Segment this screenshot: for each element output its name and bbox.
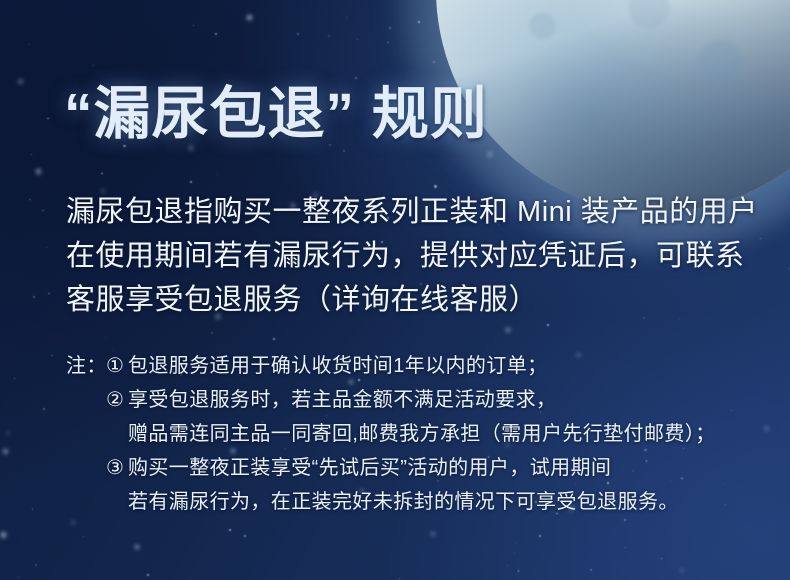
- star-dot: [346, 17, 348, 19]
- moon-icon: [436, 0, 790, 212]
- note-item-continuation: 赠品需连同主品一同寄回,邮费我方承担（需用户先行垫付邮费）；: [66, 417, 776, 451]
- note-marker: ①: [106, 349, 128, 383]
- star-dot: [328, 35, 330, 37]
- star-dot: [3, 449, 8, 454]
- star-dot: [43, 408, 45, 410]
- star-dot: [434, 185, 436, 187]
- star-dot: [624, 519, 626, 521]
- promo-banner: “漏尿包退” 规则 漏尿包退指购买一整夜系列正装和 Mini 装产品的用户 在使…: [0, 0, 790, 580]
- star-dot: [48, 293, 50, 295]
- moon-shadow: [436, 0, 790, 212]
- star-dot: [47, 118, 49, 120]
- star-dot: [18, 79, 23, 84]
- star-dot: [297, 33, 299, 35]
- notes-list: 注： ① 包退服务适用于确认收货时间1年以内的订单； ② 享受包退服务时，若主品…: [66, 349, 776, 519]
- note-text: 若有漏尿行为，在正装完好未拆封的情况下可享受包退服务。: [128, 485, 679, 519]
- star-dot: [515, 543, 516, 544]
- star-dot: [83, 536, 84, 537]
- star-dot: [101, 173, 103, 175]
- star-dot: [32, 508, 34, 510]
- star-dot: [71, 521, 75, 525]
- star-dot: [514, 552, 515, 553]
- note-item: 注： ① 包退服务适用于确认收货时间1年以内的订单；: [66, 349, 776, 383]
- star-dot: [590, 569, 592, 571]
- star-dot: [625, 547, 627, 549]
- star-dot: [193, 25, 194, 26]
- page-title: “漏尿包退” 规则: [64, 68, 488, 150]
- note-text: 享受包退服务时，若主品金额不满足活动要求，: [128, 383, 556, 417]
- policy-description: 漏尿包退指购买一整夜系列正装和 Mini 装产品的用户 在使用期间若有漏尿行为，…: [66, 190, 766, 322]
- star-dot: [93, 65, 94, 66]
- star-dot: [518, 570, 519, 571]
- star-dot: [51, 355, 53, 357]
- star-dot: [229, 529, 231, 531]
- star-dot: [244, 535, 246, 537]
- star-dot: [273, 338, 275, 340]
- note-text: 包退服务适用于确认收货时间1年以内的订单；: [128, 349, 548, 383]
- star-dot: [42, 210, 44, 212]
- star-dot: [215, 33, 217, 35]
- star-dot: [433, 61, 435, 63]
- notes-prefix-label: 注：: [66, 349, 106, 383]
- star-dot: [135, 545, 139, 549]
- star-dot: [31, 154, 32, 155]
- note-text: 购买一整夜正装享受“先试后买”活动的用户，试用期间: [128, 451, 611, 485]
- star-dot: [29, 44, 30, 45]
- star-dot: [7, 432, 9, 434]
- note-marker: ②: [106, 383, 128, 417]
- note-item: ③ 购买一整夜正装享受“先试后买”活动的用户，试用期间: [66, 451, 776, 485]
- star-dot: [506, 328, 510, 332]
- star-dot: [488, 152, 493, 157]
- star-dot: [343, 150, 345, 152]
- star-dot: [36, 169, 41, 174]
- star-dot: [507, 565, 509, 567]
- policy-line: 客服享受包退服务（详询在线客服）: [66, 278, 766, 322]
- star-dot: [680, 569, 684, 573]
- star-dot: [247, 15, 252, 20]
- star-dot: [211, 332, 213, 334]
- star-dot: [661, 558, 662, 559]
- star-dot: [387, 42, 389, 44]
- star-dot: [33, 296, 35, 298]
- star-dot: [399, 578, 400, 579]
- star-dot: [389, 27, 391, 29]
- star-dot: [105, 337, 106, 338]
- star-dot: [46, 247, 47, 248]
- note-item: ② 享受包退服务时，若主品金额不满足活动要求，: [66, 383, 776, 417]
- policy-line: 在使用期间若有漏尿行为，提供对应凭证后，可联系: [66, 234, 766, 278]
- star-dot: [35, 564, 37, 566]
- star-dot: [547, 324, 549, 326]
- note-item-continuation: 若有漏尿行为，在正装完好未拆封的情况下可享受包退服务。: [66, 485, 776, 519]
- star-dot: [14, 378, 15, 379]
- star-dot: [418, 21, 420, 23]
- star-dot: [29, 199, 31, 201]
- star-dot: [18, 577, 20, 579]
- policy-line: 漏尿包退指购买一整夜系列正装和 Mini 装产品的用户: [66, 190, 766, 234]
- star-dot: [539, 535, 541, 537]
- star-dot: [357, 39, 359, 41]
- star-dot: [190, 181, 192, 183]
- star-dot: [431, 532, 435, 536]
- star-dot: [1, 532, 7, 538]
- note-marker: ③: [106, 451, 128, 485]
- note-text: 赠品需连同主品一同寄回,邮费我方承担（需用户先行垫付邮费）；: [128, 417, 716, 451]
- star-dot: [216, 174, 217, 175]
- star-dot: [147, 574, 149, 576]
